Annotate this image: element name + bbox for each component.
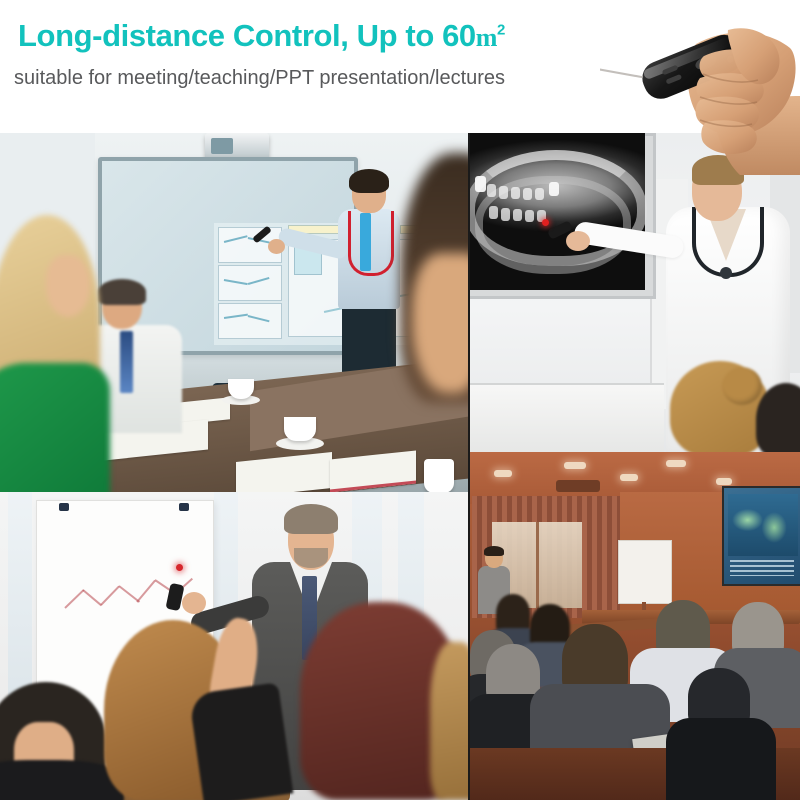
photo-meeting-room[interactable]	[0, 133, 468, 492]
laser-dot-icon	[542, 219, 549, 226]
headline-unit-superscript: 2	[497, 22, 505, 39]
xray-lightbox	[470, 133, 656, 299]
foreground-student-a	[670, 361, 770, 452]
flipchart-board	[618, 540, 672, 604]
projection-screen	[722, 486, 800, 586]
laser-dot-icon	[176, 564, 183, 571]
photo-meeting-room-scene	[0, 133, 468, 492]
photo-dental-xray-scene	[470, 133, 800, 452]
presenter-person	[330, 173, 408, 383]
headline-unit: m	[476, 23, 497, 52]
headline-prefix: Long-distance Control, Up to	[18, 18, 442, 53]
photo-flipchart-scene	[0, 492, 468, 800]
world-map-slide	[728, 494, 798, 556]
photo-lecture-hall[interactable]	[470, 452, 800, 800]
grid-divider-vertical	[468, 133, 470, 800]
usage-scenario-photo-grid	[0, 133, 800, 800]
page-title: Long-distance Control, Up to 60m2	[18, 20, 505, 51]
photo-lecture-hall-scene	[470, 452, 800, 800]
photo-flipchart-presentation[interactable]	[0, 492, 468, 800]
photo-dental-xray[interactable]	[470, 133, 800, 452]
header-banner: Long-distance Control, Up to 60m2 suitab…	[0, 0, 800, 133]
page-subtitle: suitable for meeting/teaching/PPT presen…	[14, 68, 505, 88]
panoramic-xray-image	[470, 133, 645, 290]
headline-value: 60	[442, 18, 476, 53]
audience-member-4	[430, 642, 468, 800]
product-marketing-image: Long-distance Control, Up to 60m2 suitab…	[0, 0, 800, 800]
